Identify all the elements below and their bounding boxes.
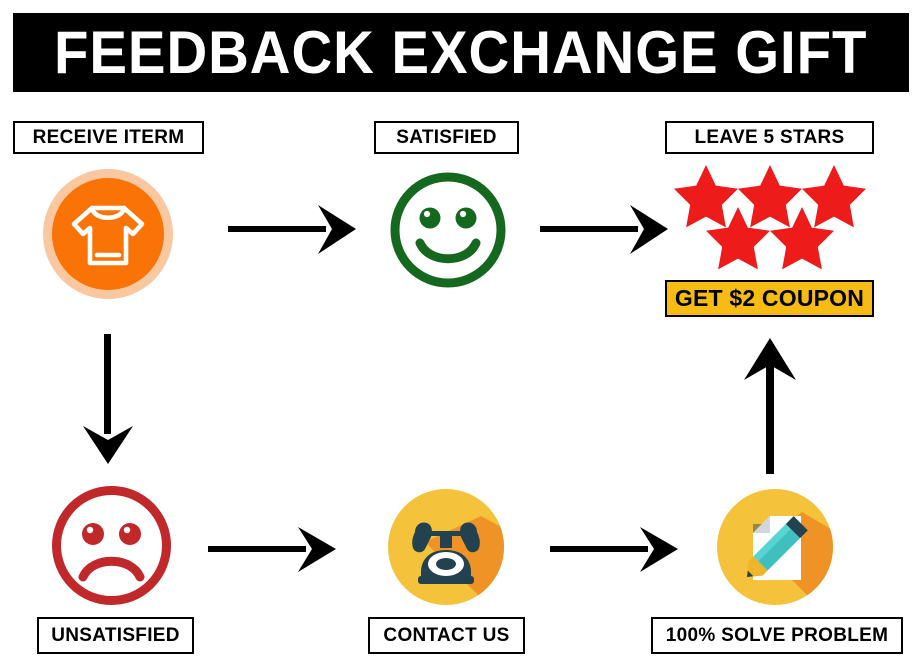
- arrow-right-receive-to-satisfied: [228, 205, 356, 257]
- arrow-right-satisfied-to-stars: [540, 205, 668, 257]
- arrow-right-contact-to-solve: [550, 527, 678, 575]
- arrow-right-unsatisfied-to-contact: [208, 527, 336, 575]
- telephone-icon: [385, 486, 507, 608]
- label-satisfied: SATISFIED: [374, 121, 519, 154]
- feedback-exchange-poster: FEEDBACK EXCHANGE GIFT RECEIVE ITERM SAT…: [0, 0, 919, 669]
- poster-title-banner: FEEDBACK EXCHANGE GIFT: [13, 13, 909, 92]
- get-coupon-badge[interactable]: GET $2 COUPON: [665, 280, 874, 317]
- edit-document-icon: [714, 486, 836, 608]
- five-stars-icon: [672, 163, 868, 271]
- arrow-up-solve-to-coupon: [742, 338, 798, 474]
- label-unsatisfied: UNSATISFIED: [37, 617, 194, 654]
- happy-face-icon: [387, 169, 509, 291]
- label-solve-problem: 100% SOLVE PROBLEM: [651, 617, 903, 654]
- label-leave-5-stars: LEAVE 5 STARS: [665, 121, 874, 154]
- sad-face-icon: [48, 482, 175, 609]
- label-receive-item: RECEIVE ITERM: [13, 121, 204, 154]
- label-contact-us: CONTACT US: [368, 617, 525, 654]
- tshirt-icon: [42, 168, 174, 300]
- page-title: FEEDBACK EXCHANGE GIFT: [54, 23, 867, 83]
- arrow-down-receive-to-unsatisfied: [82, 334, 134, 464]
